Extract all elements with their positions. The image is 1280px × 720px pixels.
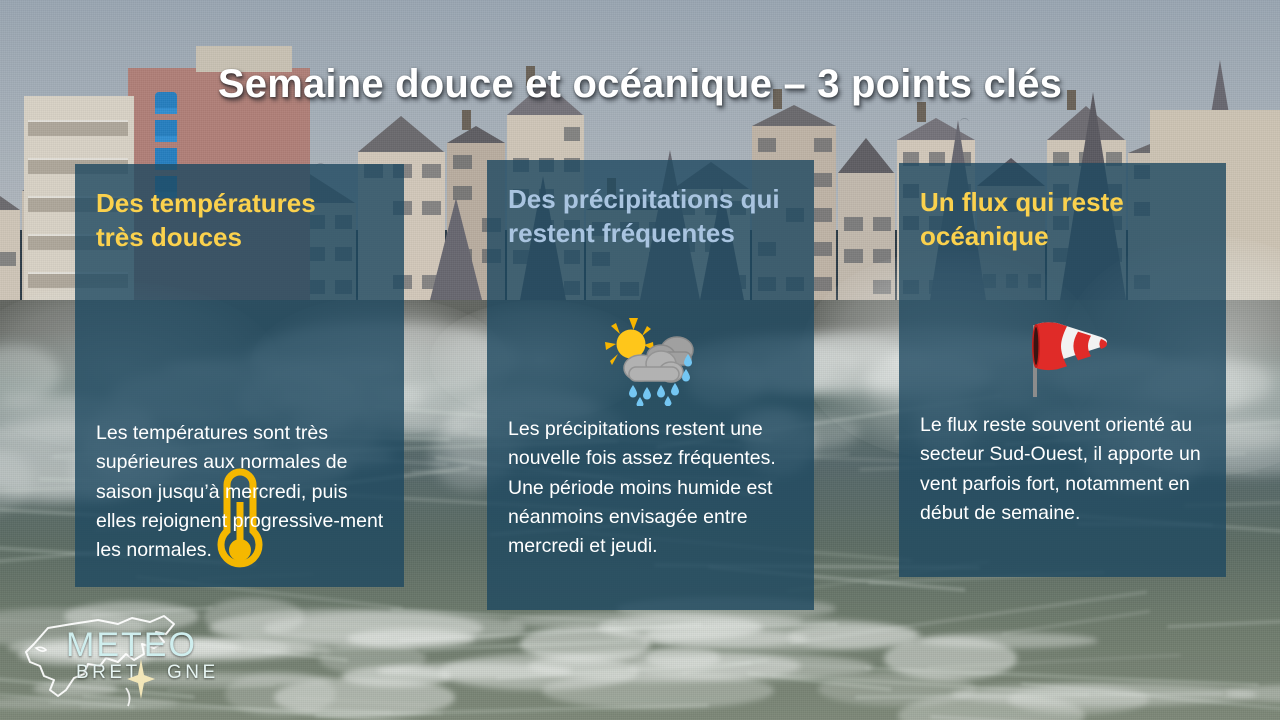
page-title: Semaine douce et océanique – 3 points cl… — [0, 62, 1280, 107]
foreground-foam — [439, 654, 639, 690]
window — [814, 208, 832, 222]
window — [814, 242, 832, 256]
windsock-icon-wrap — [899, 298, 1226, 408]
heading-line-1: Des températures — [96, 188, 316, 218]
card-flux-body: Le flux reste souvent orienté au secteur… — [920, 411, 1210, 528]
window — [0, 252, 16, 266]
balcony — [28, 120, 128, 136]
heading-line-1: Un flux qui reste — [920, 187, 1124, 217]
logo-brand-right: GNE — [167, 662, 219, 683]
card-precipitations: Des précipitations qui restent fréquente… — [487, 160, 814, 610]
card-precipitations-body: Les précipitations restent une nouvelle … — [508, 415, 798, 561]
windsock-icon — [1008, 303, 1118, 403]
window — [844, 249, 863, 263]
card-precipitations-heading: Des précipitations qui restent fréquente… — [508, 183, 798, 251]
foreground-foam — [818, 672, 976, 706]
weather-icon-wrap — [487, 310, 814, 410]
heading-line-2: très douces — [96, 222, 242, 252]
roof — [838, 138, 894, 173]
foreground-foam — [646, 618, 917, 650]
roof — [358, 116, 444, 152]
foreground-foam — [274, 677, 455, 717]
card-temperatures: Des températures très douces Les tempéra… — [75, 164, 404, 587]
window — [814, 138, 832, 152]
chimney — [462, 110, 471, 130]
meteo-bretagne-logo: METEO BRET GNE — [14, 604, 204, 712]
heading-line-2: océanique — [920, 221, 1049, 251]
roof — [0, 196, 20, 210]
card-flux: Un flux qui reste océanique Le flux rest… — [899, 163, 1226, 577]
window — [844, 217, 863, 231]
compass-star-icon — [127, 659, 155, 699]
foreground-foam — [264, 612, 525, 644]
window — [873, 217, 892, 231]
card-temperatures-heading: Des températures très douces — [96, 187, 388, 255]
foreground-foam — [629, 654, 874, 680]
heading-line-2: restent fréquentes — [508, 218, 735, 248]
heading-line-1: Des précipitations qui — [508, 184, 780, 214]
window — [814, 173, 832, 187]
card-flux-heading: Un flux qui reste océanique — [920, 186, 1210, 254]
roof — [447, 126, 505, 143]
window — [453, 155, 472, 169]
window — [758, 138, 776, 152]
roof — [752, 105, 836, 126]
window — [814, 277, 832, 291]
window — [422, 164, 441, 178]
sun-behind-rain-cloud-icon — [599, 314, 703, 406]
foreground-foam — [1008, 685, 1149, 714]
window — [564, 127, 580, 141]
card-temperatures-body: Les températures sont très supérieures a… — [96, 419, 388, 565]
turret-spire — [430, 198, 482, 300]
windsock-sock — [1032, 322, 1107, 370]
